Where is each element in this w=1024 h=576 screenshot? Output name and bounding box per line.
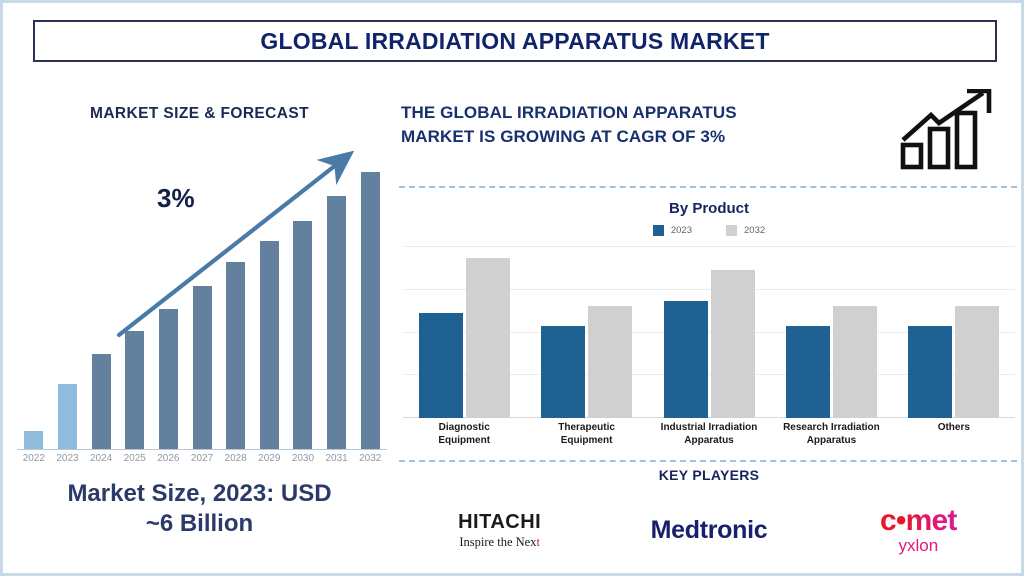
bar-2032: [833, 306, 877, 418]
bar: [293, 221, 312, 449]
bar-2032: [466, 258, 510, 418]
category-label-4: Others: [893, 421, 1015, 447]
growth-chart-icon: [897, 89, 1005, 171]
bar: [24, 431, 43, 449]
infographic-page: GLOBAL IRRADIATION APPARATUS MARKET MARK…: [0, 0, 1024, 576]
market-size-bars: [17, 159, 387, 449]
year-label-2029: 2029: [252, 453, 286, 464]
market-size-bar-2032: [353, 159, 387, 449]
left-chart-year-labels: 2022202320242025202620272028202920302031…: [17, 453, 387, 464]
bar: [327, 196, 346, 449]
bar-2023: [786, 326, 830, 418]
bar-2023: [908, 326, 952, 418]
bar-group-4: [893, 246, 1015, 418]
market-size-bar-2027: [185, 159, 219, 449]
by-product-title: By Product: [395, 200, 1023, 217]
bar-group-3: [770, 246, 892, 418]
separator-top: [399, 186, 1017, 188]
page-title-box: GLOBAL IRRADIATION APPARATUS MARKET: [33, 20, 997, 62]
by-product-chart: [403, 246, 1015, 418]
market-size-bar-2023: [51, 159, 85, 449]
bar-group-2: [648, 246, 770, 418]
bar-2032: [711, 270, 755, 418]
market-size-bar-2029: [252, 159, 286, 449]
logo-subwordmark: yxlon: [898, 537, 938, 554]
left-chart-axis: [17, 449, 387, 450]
bar-2032: [955, 306, 999, 418]
year-label-2030: 2030: [286, 453, 320, 464]
legend-item-2032[interactable]: 2032: [726, 225, 765, 236]
bar: [361, 172, 380, 449]
category-label-1: TherapeuticEquipment: [525, 421, 647, 447]
bar: [125, 331, 144, 449]
category-line: Apparatus: [684, 435, 733, 446]
logo-wordmark: HITACHI: [458, 511, 541, 534]
page-title: GLOBAL IRRADIATION APPARATUS MARKET: [260, 28, 769, 55]
bar-2032: [588, 306, 632, 418]
legend-item-2023[interactable]: 2023: [653, 225, 692, 236]
category-label-0: DiagnosticEquipment: [403, 421, 525, 447]
year-label-2024: 2024: [84, 453, 118, 464]
by-product-category-labels: DiagnosticEquipmentTherapeuticEquipmentI…: [403, 421, 1015, 447]
market-size-bar-2026: [152, 159, 186, 449]
category-label-2: Industrial IrradiationApparatus: [648, 421, 770, 447]
market-size-value: Market Size, 2023: USD ~6 Billion: [7, 479, 392, 539]
key-players-logos: HITACHIInspire the NextMedtronicc•metyxl…: [395, 494, 1023, 566]
bar: [260, 241, 279, 449]
cagr-headline: THE GLOBAL IRRADIATION APPARATUS MARKET …: [401, 101, 881, 149]
key-players-title: KEY PLAYERS: [395, 467, 1023, 483]
market-size-bar-2030: [286, 159, 320, 449]
cagr-headline-line-2: MARKET IS GROWING AT CAGR OF 3%: [401, 125, 881, 149]
year-label-2031: 2031: [320, 453, 354, 464]
market-size-bar-2028: [219, 159, 253, 449]
market-size-bar-2022: [17, 159, 51, 449]
category-line: Research Irradiation: [783, 422, 880, 433]
key-player-logo-2[interactable]: c•metyxlon: [814, 506, 1023, 554]
bar: [159, 309, 178, 449]
category-line: Industrial Irradiation: [661, 422, 758, 433]
category-line: Equipment: [438, 435, 490, 446]
bar: [226, 262, 245, 449]
year-label-2025: 2025: [118, 453, 152, 464]
market-size-bar-2024: [84, 159, 118, 449]
market-size-bar-2025: [118, 159, 152, 449]
year-label-2032: 2032: [353, 453, 387, 464]
legend-swatch: [653, 225, 664, 236]
key-player-logo-1[interactable]: Medtronic: [604, 516, 813, 545]
bar-2023: [664, 301, 708, 418]
category-line: Others: [938, 422, 970, 433]
category-line: Equipment: [561, 435, 613, 446]
bar: [92, 354, 111, 449]
market-size-bar-2031: [320, 159, 354, 449]
legend-swatch: [726, 225, 737, 236]
year-label-2023: 2023: [51, 453, 85, 464]
year-label-2026: 2026: [152, 453, 186, 464]
legend-label: 2032: [744, 225, 765, 236]
market-size-line-2: ~6 Billion: [146, 510, 253, 537]
category-line: Diagnostic: [439, 422, 490, 433]
category-line: Therapeutic: [558, 422, 615, 433]
bar-group-0: [403, 246, 525, 418]
left-panel: MARKET SIZE & FORECAST 3% 20222023202420…: [7, 69, 392, 572]
key-player-logo-0[interactable]: HITACHIInspire the Next: [395, 511, 604, 550]
bar-2023: [541, 326, 585, 418]
market-size-forecast-heading: MARKET SIZE & FORECAST: [7, 105, 392, 123]
bar: [193, 286, 212, 449]
year-label-2027: 2027: [185, 453, 219, 464]
market-size-line-1: Market Size, 2023: USD: [67, 480, 331, 507]
bar-group-1: [525, 246, 647, 418]
market-size-forecast-chart: [17, 149, 387, 449]
logo-tagline: Inspire the Next: [459, 535, 540, 550]
by-product-legend: 20232032: [395, 225, 1023, 236]
separator-bottom: [399, 460, 1017, 462]
category-line: Apparatus: [807, 435, 856, 446]
year-label-2028: 2028: [219, 453, 253, 464]
year-label-2022: 2022: [17, 453, 51, 464]
cagr-headline-line-1: THE GLOBAL IRRADIATION APPARATUS: [401, 101, 881, 125]
category-label-3: Research IrradiationApparatus: [770, 421, 892, 447]
bar: [58, 384, 77, 449]
logo-wordmark: c•met: [880, 506, 957, 536]
logo-wordmark: Medtronic: [651, 516, 768, 545]
right-panel: THE GLOBAL IRRADIATION APPARATUS MARKET …: [395, 69, 1023, 572]
legend-label: 2023: [671, 225, 692, 236]
by-product-bar-groups: [403, 246, 1015, 418]
bar-2023: [419, 313, 463, 418]
